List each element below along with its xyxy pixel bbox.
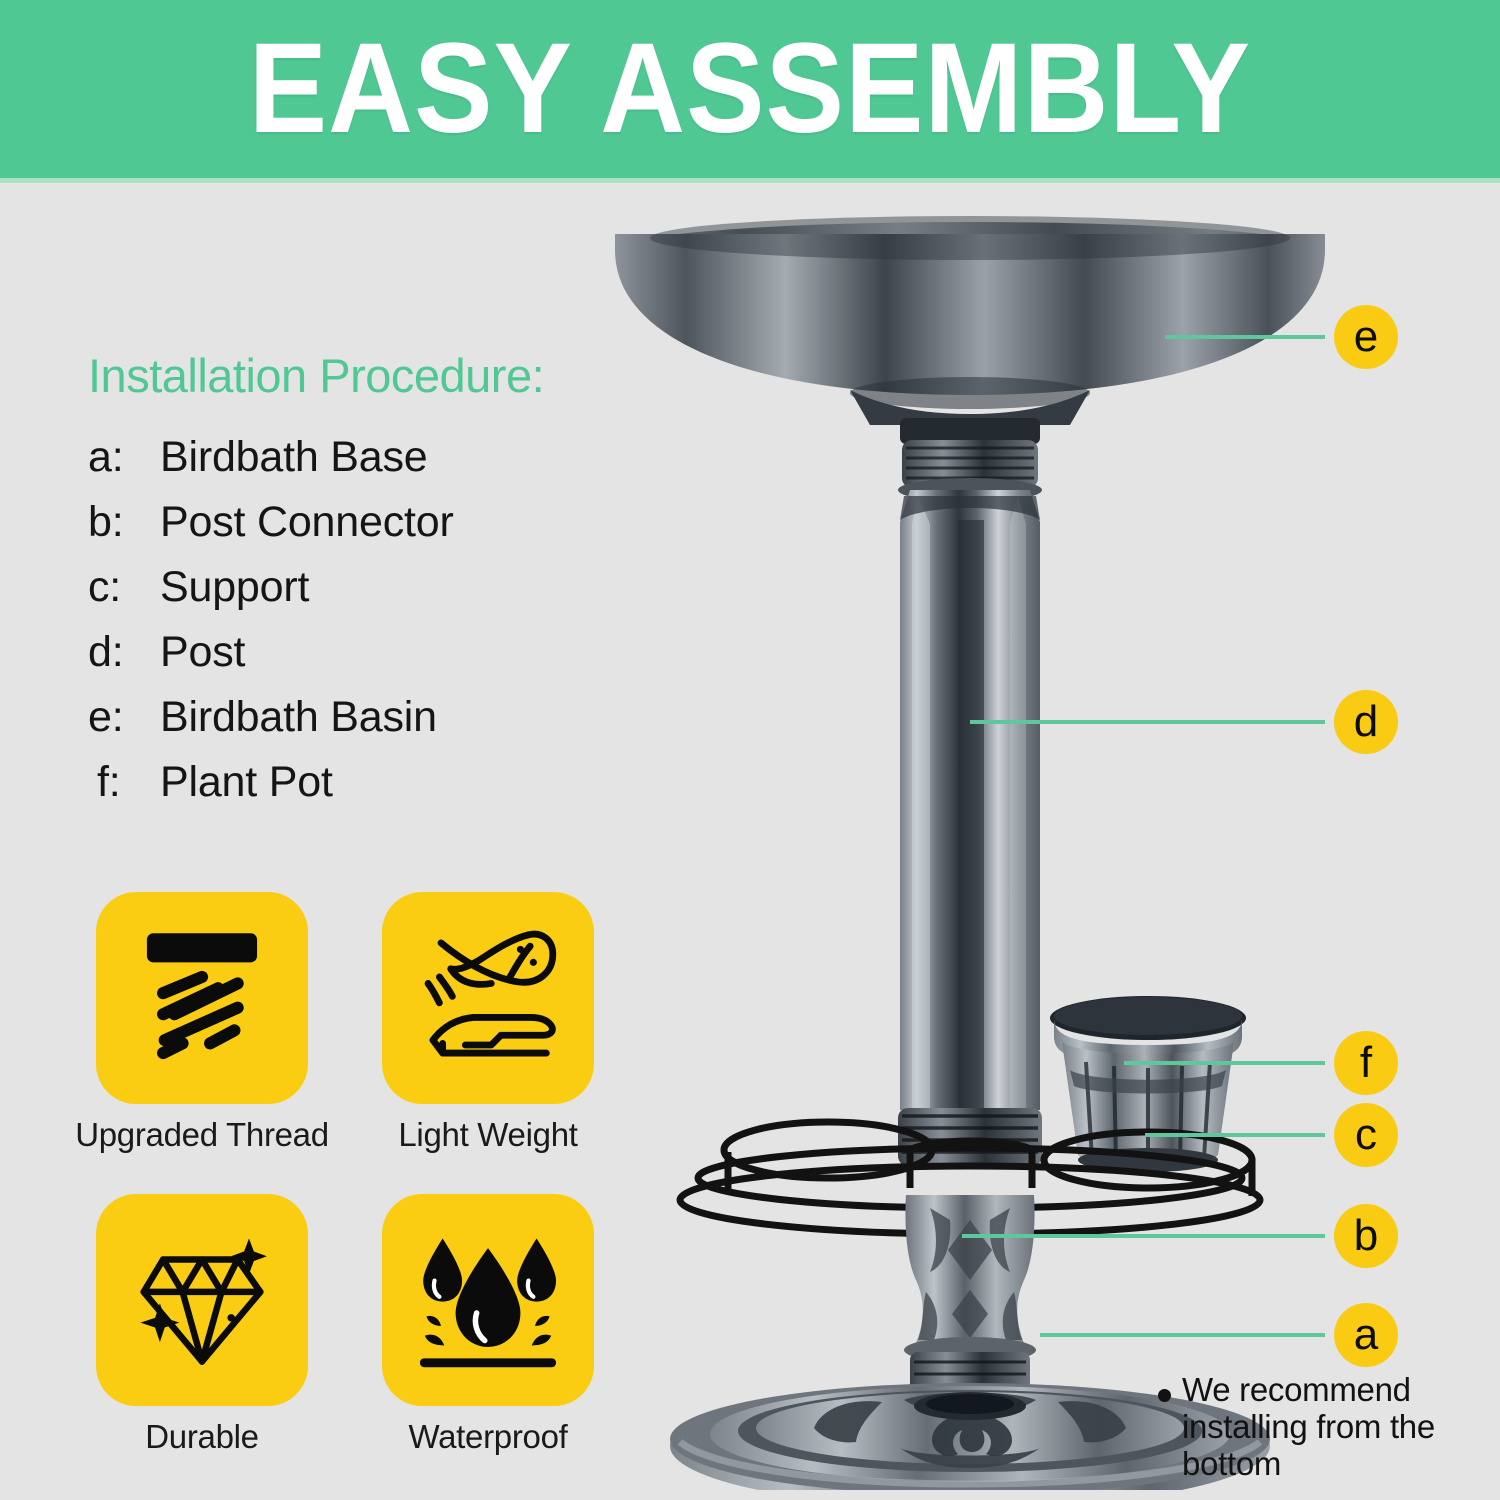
procedure-key-c: c: [88,563,160,612]
feature-light-weight: Light Weight [382,892,594,1154]
procedure-label-f: Plant Pot [160,758,333,807]
feature-label-upgraded-thread: Upgraded Thread [75,1116,329,1154]
feature-label-waterproof: Waterproof [408,1418,567,1456]
water-droplets-icon [407,1219,569,1381]
callout-badge-c[interactable]: c [1334,1103,1398,1167]
diamond-sparkle-icon [121,1219,283,1381]
part-plant-pot [1050,996,1246,1172]
birdbath-illustration [600,190,1340,1490]
leader-line-a [1040,1333,1325,1337]
feature-label-light-weight: Light Weight [398,1116,577,1154]
banner-underline [0,178,1500,183]
feature-tile-durable [96,1194,308,1406]
feature-tile-waterproof [382,1194,594,1406]
header-banner: EASY ASSEMBLY [0,0,1500,178]
procedure-key-f: f: [88,758,160,807]
callout-badge-d[interactable]: d [1334,690,1398,754]
recommendation-note-text: We recommend installing from the bottom [1182,1372,1488,1483]
procedure-key-d: d: [88,628,160,677]
callout-badge-b[interactable]: b [1334,1204,1398,1268]
part-post-connector [904,1195,1036,1402]
part-post [900,490,1040,1110]
feature-durable: Durable [96,1194,308,1456]
part-birdbath-basin [615,216,1325,444]
feature-tile-upgraded-thread [96,892,308,1104]
feature-upgraded-thread: Upgraded Thread [96,892,308,1154]
feature-grid: Upgraded Thread Light Weight [96,892,594,1456]
leader-line-d [970,720,1325,724]
procedure-label-d: Post [160,628,245,677]
callout-badge-a[interactable]: a [1334,1303,1398,1367]
feature-waterproof: Waterproof [382,1194,594,1456]
procedure-label-e: Birdbath Basin [160,693,437,742]
procedure-key-e: e: [88,693,160,742]
procedure-label-c: Support [160,563,309,612]
callout-badge-f[interactable]: f [1334,1031,1398,1095]
feature-tile-light-weight [382,892,594,1104]
leader-line-e [1165,335,1325,339]
procedure-key-a: a: [88,433,160,482]
page-title: EASY ASSEMBLY [249,25,1251,153]
procedure-key-b: b: [88,498,160,547]
leader-line-c [1145,1133,1325,1137]
product-image [600,190,1340,1490]
bullet-icon [1158,1389,1171,1402]
callout-badge-e[interactable]: e [1334,305,1398,369]
feature-label-durable: Durable [145,1418,258,1456]
screw-thread-icon [121,917,283,1079]
leader-line-f [1124,1061,1325,1065]
leader-line-b [962,1234,1325,1238]
feather-on-hand-icon [407,917,569,1079]
procedure-label-b: Post Connector [160,498,454,547]
recommendation-note: We recommend installing from the bottom [1158,1372,1488,1483]
procedure-label-a: Birdbath Base [160,433,428,482]
